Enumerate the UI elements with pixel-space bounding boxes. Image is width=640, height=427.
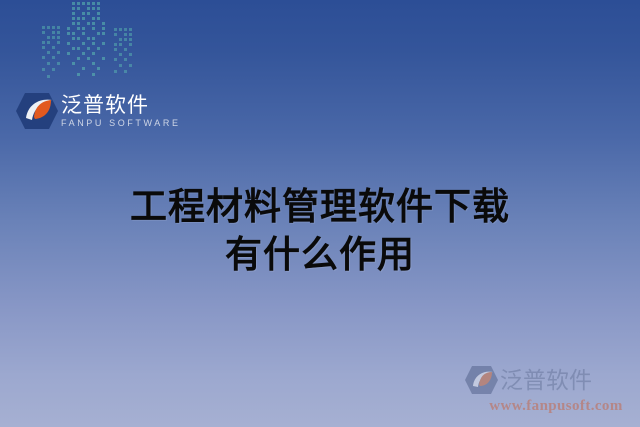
watermark-logo-row: 泛普软件 [464,363,632,397]
page-title-line-2: 有什么作用 [0,231,640,279]
watermark-name-cn: 泛普软件 [500,367,592,393]
brand-name-en: FANPU SOFTWARE [61,118,181,129]
watermark-url: www.fanpusoft.com [464,397,632,415]
image-canvas: 泛普软件 FANPU SOFTWARE 工程材料管理软件下载 有什么作用 泛普软… [0,0,640,427]
watermark-logo-mark-icon [464,365,498,395]
pixel-city-svg [38,0,138,82]
fanpu-logo-mark-svg [14,91,58,131]
page-title-line-1: 工程材料管理软件下载 [0,183,640,231]
brand-logo: 泛普软件 FANPU SOFTWARE [14,88,174,134]
watermark-logo-svg [464,365,498,395]
watermark: 泛普软件 www.fanpusoft.com [464,363,632,421]
page-title: 工程材料管理软件下载 有什么作用 [0,183,640,279]
fanpu-logo-mark-icon [14,91,58,131]
brand-name-cn: 泛普软件 [61,94,181,117]
brand-wordmark: 泛普软件 FANPU SOFTWARE [61,94,181,129]
pixel-city-icon [38,0,138,82]
